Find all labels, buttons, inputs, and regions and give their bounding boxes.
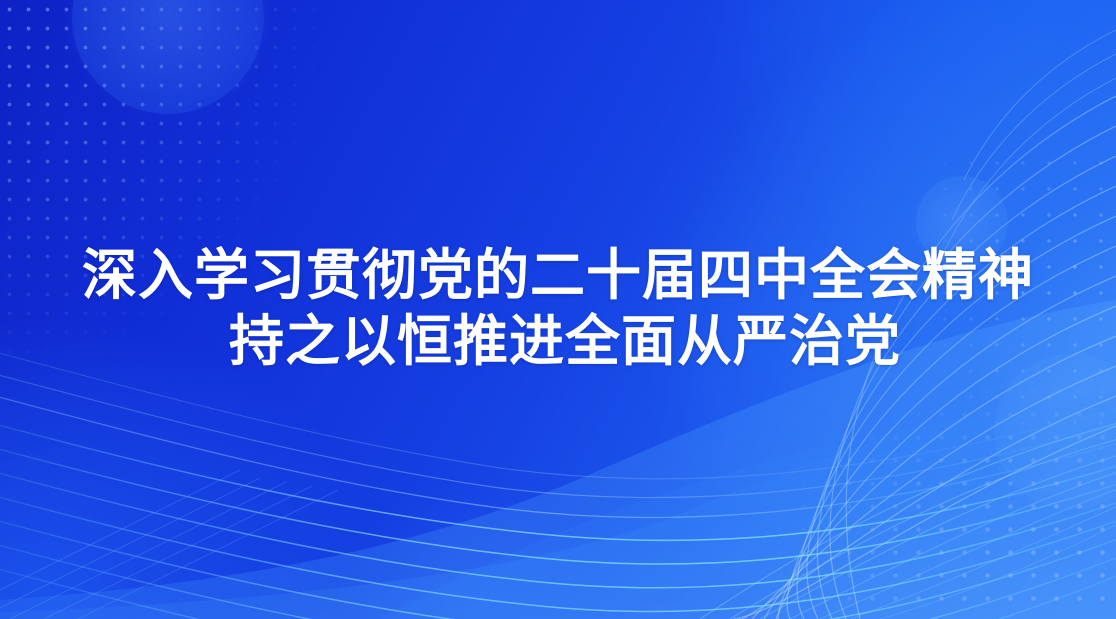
line-fan-right (700, 418, 1116, 619)
dot-pattern-bottom-right-icon (700, 380, 1116, 619)
poster-title: 深入学习贯彻党的二十届四中全会精神 持之以恒推进全面从严治党 (0, 243, 1116, 375)
poster-banner: 深入学习贯彻党的二十届四中全会精神 持之以恒推进全面从严治党 (0, 0, 1116, 619)
hairlines-bottom-left (0, 470, 338, 619)
title-line-1: 深入学习贯彻党的二十届四中全会精神 (0, 243, 1116, 309)
title-line-2: 持之以恒推进全面从严治党 (0, 309, 1116, 375)
wave-lines-bottom-left (0, 348, 1116, 619)
arc-lines-top-right (940, 30, 1116, 260)
